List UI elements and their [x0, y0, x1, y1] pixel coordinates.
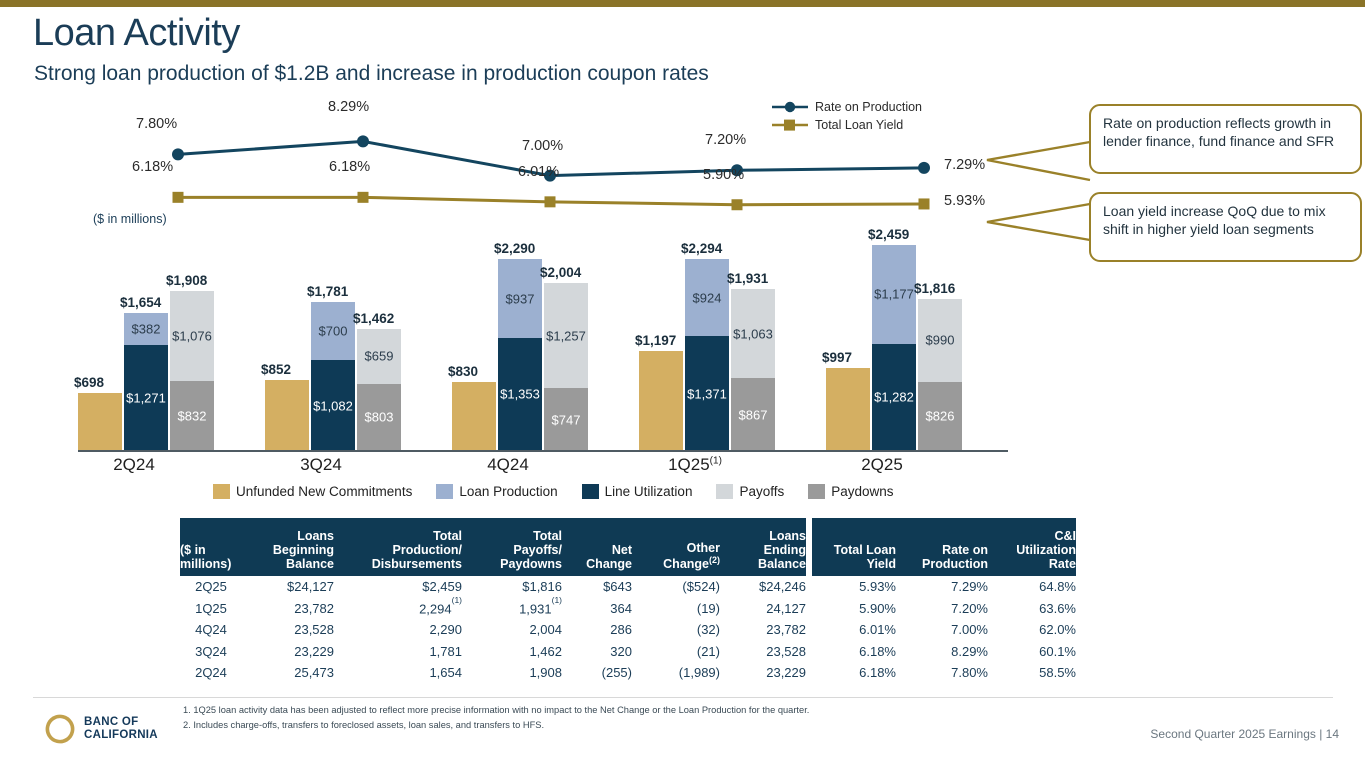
bar-segment: $1,271 [124, 345, 168, 451]
bar-segment: $382 [124, 313, 168, 345]
bar-2: $700$1,082 [311, 302, 355, 451]
table-cell: (19) [632, 601, 720, 616]
legend-label: Payoffs [739, 484, 784, 499]
legend-label: Rate on Production [815, 100, 922, 114]
table-cell: 7.80% [896, 665, 988, 680]
footnote-2: 2. Includes charge-offs, transfers to fo… [183, 718, 809, 733]
loan-activity-bar-chart: $698$382$1,271$1,654$1,076$832$1,908$852… [78, 225, 1008, 451]
bar-segment: $826 [918, 382, 962, 451]
line-marker [358, 192, 369, 203]
legend-swatch [213, 484, 230, 499]
table-cell: 7.29% [896, 579, 988, 594]
bar-legend-item: Line Utilization [582, 484, 693, 499]
table-cell: 2Q24 [180, 665, 242, 680]
bar-total-label: $2,290 [494, 241, 535, 256]
table-col-header: ($ inmillions) [180, 543, 242, 571]
bar-segment-label: $382 [124, 321, 168, 336]
bar-segment: $659 [357, 329, 401, 384]
legend-swatch [808, 484, 825, 499]
bar-3: $659$803 [357, 329, 401, 451]
table-cell: $2,459 [334, 579, 462, 594]
bar-segment-label: $937 [498, 291, 542, 306]
bar-3: $1,063$867 [731, 289, 775, 451]
bar-segment: $937 [498, 259, 542, 337]
bar-3: $1,076$832 [170, 291, 214, 451]
bar-legend-item: Payoffs [716, 484, 784, 499]
top-accent-bar [0, 0, 1365, 7]
callout-arrow-1 [985, 140, 1095, 184]
table-cell: 286 [562, 622, 632, 637]
line-point-label: 6.18% [329, 159, 370, 175]
square-marker-icon [770, 118, 810, 132]
table-cell: 23,229 [720, 665, 806, 680]
bar-segment: $990 [918, 299, 962, 382]
legend-label: Loan Production [459, 484, 557, 499]
bar-segment-label: $1,371 [685, 386, 729, 401]
table-cell: 364 [562, 601, 632, 616]
bar-total-label: $1,462 [353, 311, 394, 326]
legend-label: Paydowns [831, 484, 893, 499]
table-cell: 6.01% [812, 622, 896, 637]
table-cell: $1,816 [462, 579, 562, 594]
legend-swatch [436, 484, 453, 499]
bar-group: $997$1,177$1,282$2,459$990$826$1,816 [826, 225, 962, 451]
table-col-header: TotalProduction/Disbursements [334, 529, 462, 571]
bar-segment: $700 [311, 302, 355, 361]
brand-logo: BANC OF CALIFORNIA [45, 714, 158, 744]
bar-group: $852$700$1,082$1,781$659$803$1,462 [265, 225, 401, 451]
legend-swatch [716, 484, 733, 499]
table-cell: 23,528 [720, 644, 806, 659]
table-col-header: OtherChange(2) [632, 541, 720, 571]
table-cell: 2,004 [462, 622, 562, 637]
bar-total-label: $1,908 [166, 273, 207, 288]
table-cell: 60.1% [988, 644, 1076, 659]
table-cell: (1,989) [632, 665, 720, 680]
table-cell: $24,246 [720, 579, 806, 594]
brand-line-2: CALIFORNIA [84, 729, 158, 742]
bar-1 [78, 393, 122, 451]
table-row: 3Q2423,2291,7811,462320(21)23,5286.18%8.… [180, 641, 1076, 663]
bar-total-label: $2,294 [681, 241, 722, 256]
bar-segment: $1,082 [311, 360, 355, 451]
table-col-header: LoansEnding Balance [720, 529, 806, 571]
page-footer: Second Quarter 2025 Earnings | 14 [1150, 727, 1339, 741]
bar-total-label: $1,931 [727, 271, 768, 286]
table-cell: 6.18% [812, 644, 896, 659]
table-cell: 7.20% [896, 601, 988, 616]
bar-segment-label: $924 [685, 290, 729, 305]
legend-item-rate-on-production: Rate on Production [770, 99, 930, 114]
table-header-left: ($ inmillions)LoansBeginning BalanceTota… [180, 518, 806, 576]
table-col-header: C&IUtilizationRate [988, 529, 1076, 571]
bar-3: $990$826 [918, 299, 962, 451]
bar-2: $382$1,271 [124, 313, 168, 451]
table-cell: 63.6% [988, 601, 1076, 616]
table-cell: 8.29% [896, 644, 988, 659]
legend-swatch [582, 484, 599, 499]
bar-segment-label: $1,063 [731, 326, 775, 341]
bar-total-label: $2,459 [868, 227, 909, 242]
bar-category-label: 4Q24 [440, 455, 576, 475]
bar-segment: $1,257 [544, 283, 588, 388]
bar-segment [826, 368, 870, 451]
table-cell: 23,528 [242, 622, 334, 637]
bar-segment-label: $1,082 [311, 398, 355, 413]
bar-segment: $1,177 [872, 245, 916, 344]
bar-segment: $924 [685, 259, 729, 336]
bar-segment-label: $990 [918, 333, 962, 348]
bar-segment-label: $1,282 [872, 390, 916, 405]
line-point-label: 6.18% [132, 159, 173, 175]
bar-chart-baseline [78, 450, 1008, 452]
bar-segment-label: $832 [170, 409, 214, 424]
bar-category-label: 3Q24 [253, 455, 389, 475]
bar-segment: $832 [170, 381, 214, 451]
bar-2: $924$1,371 [685, 259, 729, 451]
table-cell: 1,462 [462, 644, 562, 659]
bar-chart-legend: Unfunded New CommitmentsLoan ProductionL… [213, 484, 918, 499]
footer-divider [33, 697, 1333, 698]
bar-3: $1,257$747 [544, 283, 588, 451]
line-marker [732, 199, 743, 210]
bar-segment [265, 380, 309, 451]
table-cell: 3Q24 [180, 644, 242, 659]
bar-total-label: $2,004 [540, 265, 581, 280]
table-cell: 320 [562, 644, 632, 659]
bar-legend-item: Loan Production [436, 484, 557, 499]
table-body: 2Q25$24,127$2,459$1,816$643($524)$24,246… [180, 576, 1076, 684]
table-cell: 23,782 [720, 622, 806, 637]
table-col-header: NetChange [562, 543, 632, 571]
bar-group: $698$382$1,271$1,654$1,076$832$1,908 [78, 225, 214, 451]
table-cell: (255) [562, 665, 632, 680]
table-cell: 1Q25 [180, 601, 242, 616]
table-cell: 2Q25 [180, 579, 242, 594]
legend-label: Total Loan Yield [815, 118, 903, 132]
table-cell: 7.00% [896, 622, 988, 637]
bar-segment-label: $1,353 [498, 387, 542, 402]
bar-segment-label: $1,177 [872, 287, 916, 302]
table-header-right: Total LoanYieldRate onProductionC&IUtili… [812, 518, 1076, 576]
line-point-label: 7.80% [136, 116, 177, 132]
bar-2: $1,177$1,282 [872, 245, 916, 451]
table-cell: 4Q24 [180, 622, 242, 637]
bar-segment-label: $1,257 [544, 328, 588, 343]
table-cell: 25,473 [242, 665, 334, 680]
bar-1 [826, 368, 870, 451]
bar-segment-label: $1,076 [170, 329, 214, 344]
bar-segment [639, 351, 683, 451]
callout-loan-yield: Loan yield increase QoQ due to mix shift… [1089, 192, 1362, 262]
legend-item-total-loan-yield: Total Loan Yield [770, 117, 930, 132]
line-point-label: 7.29% [944, 157, 985, 173]
table-cell: 5.93% [812, 579, 896, 594]
bar-segment [78, 393, 122, 451]
table-cell: 64.8% [988, 579, 1076, 594]
table-col-header: TotalPayoffs/Paydowns [462, 529, 562, 571]
bar-total-label: $1,197 [635, 333, 676, 348]
table-cell: 1,654 [334, 665, 462, 680]
table-cell: ($524) [632, 579, 720, 594]
table-cell: $643 [562, 579, 632, 594]
line-marker [918, 162, 930, 174]
bar-segment-label: $803 [357, 410, 401, 425]
brand-line-1: BANC OF [84, 716, 158, 729]
bar-segment-label: $1,271 [124, 390, 168, 405]
line-point-label: 7.00% [522, 138, 563, 154]
bar-segment: $1,353 [498, 338, 542, 451]
table-header: ($ inmillions)LoansBeginning BalanceTota… [180, 518, 1076, 576]
bar-category-label: 1Q25(1) [627, 455, 763, 475]
table-cell: (32) [632, 622, 720, 637]
bar-segment: $1,076 [170, 291, 214, 381]
bar-group: $1,197$924$1,371$2,294$1,063$867$1,931 [639, 225, 775, 451]
bar-segment [452, 382, 496, 451]
bar-group: $830$937$1,353$2,290$1,257$747$2,004 [452, 225, 588, 451]
line-point-label: 5.93% [944, 193, 985, 209]
bar-category-label: 2Q24 [66, 455, 202, 475]
bar-1 [452, 382, 496, 451]
table-cell: 1,781 [334, 644, 462, 659]
table-cell: $24,127 [242, 579, 334, 594]
line-chart-legend: Rate on Production Total Loan Yield [770, 99, 930, 135]
bar-segment-label: $826 [918, 409, 962, 424]
bar-segment: $1,063 [731, 289, 775, 378]
table-cell: 58.5% [988, 665, 1076, 680]
bar-category-label: 2Q25 [814, 455, 950, 475]
line-point-label: 8.29% [328, 99, 369, 115]
legend-label: Unfunded New Commitments [236, 484, 412, 499]
bar-1 [639, 351, 683, 451]
bar-segment: $867 [731, 378, 775, 451]
loan-activity-table: ($ inmillions)LoansBeginning BalanceTota… [180, 518, 1076, 684]
table-row: 1Q2523,7822,294(1)1,931(1)364(19)24,1275… [180, 598, 1076, 620]
table-row: 2Q2425,4731,6541,908(255)(1,989)23,2296.… [180, 662, 1076, 684]
line-point-label: 5.90% [703, 167, 744, 183]
bar-2: $937$1,353 [498, 259, 542, 451]
units-note: ($ in millions) [93, 212, 167, 226]
bar-total-label: $1,816 [914, 281, 955, 296]
bar-segment: $1,282 [872, 344, 916, 451]
table-cell: 2,290 [334, 622, 462, 637]
bar-total-label: $852 [261, 362, 291, 377]
table-cell: 1,931(1) [462, 600, 562, 616]
table-cell: 23,782 [242, 601, 334, 616]
bar-segment-label: $659 [357, 349, 401, 364]
line-marker [919, 198, 930, 209]
bar-total-label: $698 [74, 375, 104, 390]
table-cell: 24,127 [720, 601, 806, 616]
bar-segment: $1,371 [685, 336, 729, 451]
table-cell: 5.90% [812, 601, 896, 616]
bar-total-label: $997 [822, 350, 852, 365]
bar-segment: $747 [544, 388, 588, 451]
bar-segment-label: $747 [544, 412, 588, 427]
table-cell: 23,229 [242, 644, 334, 659]
bar-segment-label: $700 [311, 324, 355, 339]
bar-total-label: $1,781 [307, 284, 348, 299]
legend-label: Line Utilization [605, 484, 693, 499]
line-point-label: 6.01% [518, 164, 559, 180]
line-marker [172, 148, 184, 160]
footnotes: 1. 1Q25 loan activity data has been adju… [183, 703, 809, 734]
banc-of-california-ring-icon [45, 714, 75, 744]
line-marker [545, 196, 556, 207]
bar-legend-item: Unfunded New Commitments [213, 484, 412, 499]
table-col-header: LoansBeginning Balance [242, 529, 334, 571]
table-col-header: Total LoanYield [812, 543, 896, 571]
table-col-header: Rate onProduction [896, 543, 988, 571]
table-cell: 6.18% [812, 665, 896, 680]
table-cell: 62.0% [988, 622, 1076, 637]
bar-segment: $803 [357, 384, 401, 451]
table-row: 4Q2423,5282,2902,004286(32)23,7826.01%7.… [180, 619, 1076, 641]
line-marker [173, 192, 184, 203]
bar-total-label: $1,654 [120, 295, 161, 310]
bar-total-label: $830 [448, 364, 478, 379]
bar-1 [265, 380, 309, 451]
bar-legend-item: Paydowns [808, 484, 893, 499]
table-cell: 2,294(1) [334, 600, 462, 616]
page-title: Loan Activity [33, 12, 240, 55]
bar-segment-label: $867 [731, 407, 775, 422]
brand-name: BANC OF CALIFORNIA [84, 716, 158, 742]
table-cell: 1,908 [462, 665, 562, 680]
table-cell: (21) [632, 644, 720, 659]
circle-marker-icon [770, 100, 810, 114]
table-row: 2Q25$24,127$2,459$1,816$643($524)$24,246… [180, 576, 1076, 598]
footnote-1: 1. 1Q25 loan activity data has been adju… [183, 703, 809, 718]
page-subtitle: Strong loan production of $1.2B and incr… [34, 62, 709, 86]
callout-rate-on-production: Rate on production reflects growth in le… [1089, 104, 1362, 174]
line-point-label: 7.20% [705, 132, 746, 148]
line-marker [357, 135, 369, 147]
